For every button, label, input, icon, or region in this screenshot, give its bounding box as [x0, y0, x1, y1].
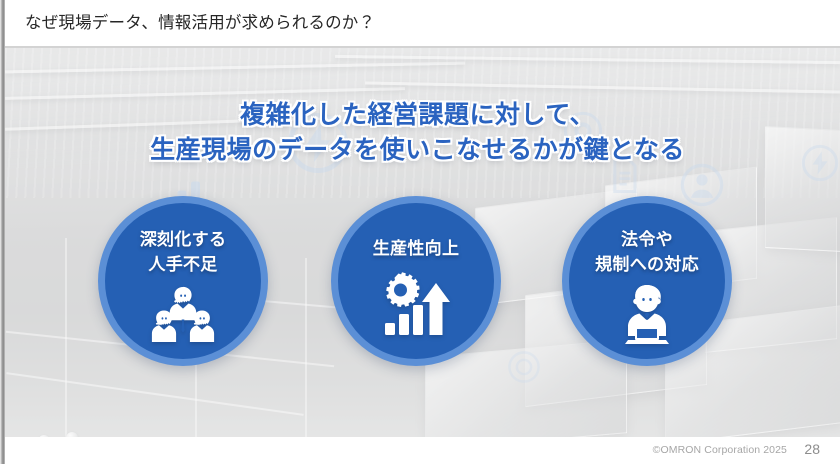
headline: 複雑化した経営課題に対して、 生産現場のデータを使いこなせるかが鍵となる: [0, 98, 835, 168]
circle-label: 生産性向上: [338, 236, 494, 261]
page-title: なぜ現場データ、情報活用が求められるのか？: [25, 11, 375, 35]
slide: なぜ現場データ、情報活用が求められるのか？: [0, 0, 840, 464]
worker-at-desk-icon: [616, 283, 678, 345]
copyright-text: ©OMRON Corporation 2025: [653, 444, 787, 456]
circle-label: 深刻化する 人手不足: [105, 227, 261, 277]
circle-label-line-2: 人手不足: [105, 252, 261, 277]
circle-label-line-1: 深刻化する: [105, 227, 261, 252]
window-edge-strip: [0, 0, 5, 464]
circle-label-line-1: 法令や: [569, 227, 725, 252]
headline-line-1: 複雑化した経営課題に対して、: [0, 98, 835, 133]
circle-label: 法令や 規制への対応: [569, 227, 725, 277]
circle-regulatory-compliance[interactable]: 法令や 規制への対応: [562, 196, 732, 366]
slide-footer: ©OMRON Corporation 2025 28: [5, 437, 840, 464]
circle-labor-shortage[interactable]: 深刻化する 人手不足: [98, 196, 268, 366]
three-people-icon: [148, 283, 218, 345]
circle-label-line-2: 規制への対応: [569, 252, 725, 277]
slide-header: なぜ現場データ、情報活用が求められるのか？: [5, 0, 840, 46]
headline-line-2: 生産現場のデータを使いこなせるかが鍵となる: [0, 133, 835, 168]
circle-label-line-1: 生産性向上: [338, 236, 494, 261]
header-divider: [5, 46, 840, 48]
page-number: 28: [804, 441, 820, 457]
circle-productivity[interactable]: 生産性向上: [331, 196, 501, 366]
gear-growth-arrow-icon: [380, 271, 452, 337]
